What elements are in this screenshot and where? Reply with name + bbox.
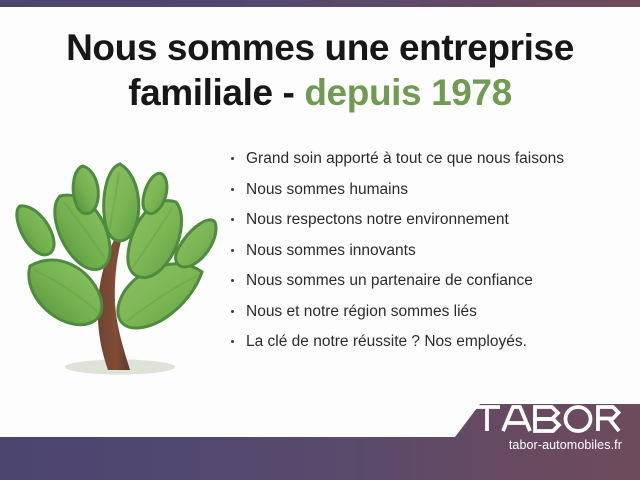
leaf-small-left bbox=[17, 206, 54, 255]
headline-line-1: Nous sommes une entreprise bbox=[66, 27, 574, 68]
list-item-label: Grand soin apporté à tout ce que nous fa… bbox=[246, 150, 564, 167]
bullet-dot-icon bbox=[231, 157, 234, 160]
list-item-label: Nous respectons notre environnement bbox=[246, 211, 509, 228]
bullet-dot-icon bbox=[231, 340, 234, 343]
bullet-dot-icon bbox=[231, 188, 234, 191]
list-item-label: Nous sommes un partenaire de confiance bbox=[246, 272, 533, 289]
list-item: Nous respectons notre environnement bbox=[228, 211, 628, 229]
bullet-dot-icon bbox=[231, 310, 234, 313]
slide-canvas: Nous sommes une entreprise familiale - d… bbox=[0, 0, 640, 480]
tree-illustration bbox=[12, 150, 222, 385]
list-item: Nous et notre région sommes liés bbox=[228, 303, 628, 321]
list-item-label: La clé de notre réussite ? Nos employés. bbox=[246, 333, 527, 350]
brand-logo[interactable]: tabor-automobiles.fr bbox=[472, 402, 622, 452]
footer-band: tabor-automobiles.fr bbox=[0, 400, 640, 480]
list-item: Nous sommes innovants bbox=[228, 242, 628, 260]
list-item-label: Nous et notre région sommes liés bbox=[246, 303, 477, 320]
leaf-top-center bbox=[104, 164, 139, 241]
value-proposition-list: Grand soin apporté à tout ce que nous fa… bbox=[228, 150, 628, 364]
top-accent-bar bbox=[0, 0, 640, 7]
list-item: Grand soin apporté à tout ce que nous fa… bbox=[228, 150, 628, 168]
list-item: Nous sommes humains bbox=[228, 181, 628, 199]
brand-wordmark-tabor bbox=[472, 402, 622, 436]
page-title: Nous sommes une entreprise familiale - d… bbox=[0, 26, 640, 114]
bullet-dot-icon bbox=[231, 218, 234, 221]
bullet-dot-icon bbox=[231, 249, 234, 252]
list-item: La clé de notre réussite ? Nos employés. bbox=[228, 333, 628, 351]
list-item-label: Nous sommes humains bbox=[246, 181, 408, 198]
list-item: Nous sommes un partenaire de confiance bbox=[228, 272, 628, 290]
headline-accent-since-1978: depuis 1978 bbox=[304, 72, 511, 113]
leaf-small-upper-left bbox=[73, 166, 98, 214]
brand-url[interactable]: tabor-automobiles.fr bbox=[472, 438, 622, 452]
leaf-lower-right bbox=[118, 264, 202, 328]
headline-line-2-prefix: familiale - bbox=[128, 72, 294, 113]
bullet-dot-icon bbox=[231, 279, 234, 282]
tabor-logotype-icon bbox=[472, 402, 622, 436]
headline-line-2: familiale - depuis 1978 bbox=[0, 71, 640, 114]
tree-icon bbox=[12, 150, 222, 385]
list-item-label: Nous sommes innovants bbox=[246, 242, 416, 259]
